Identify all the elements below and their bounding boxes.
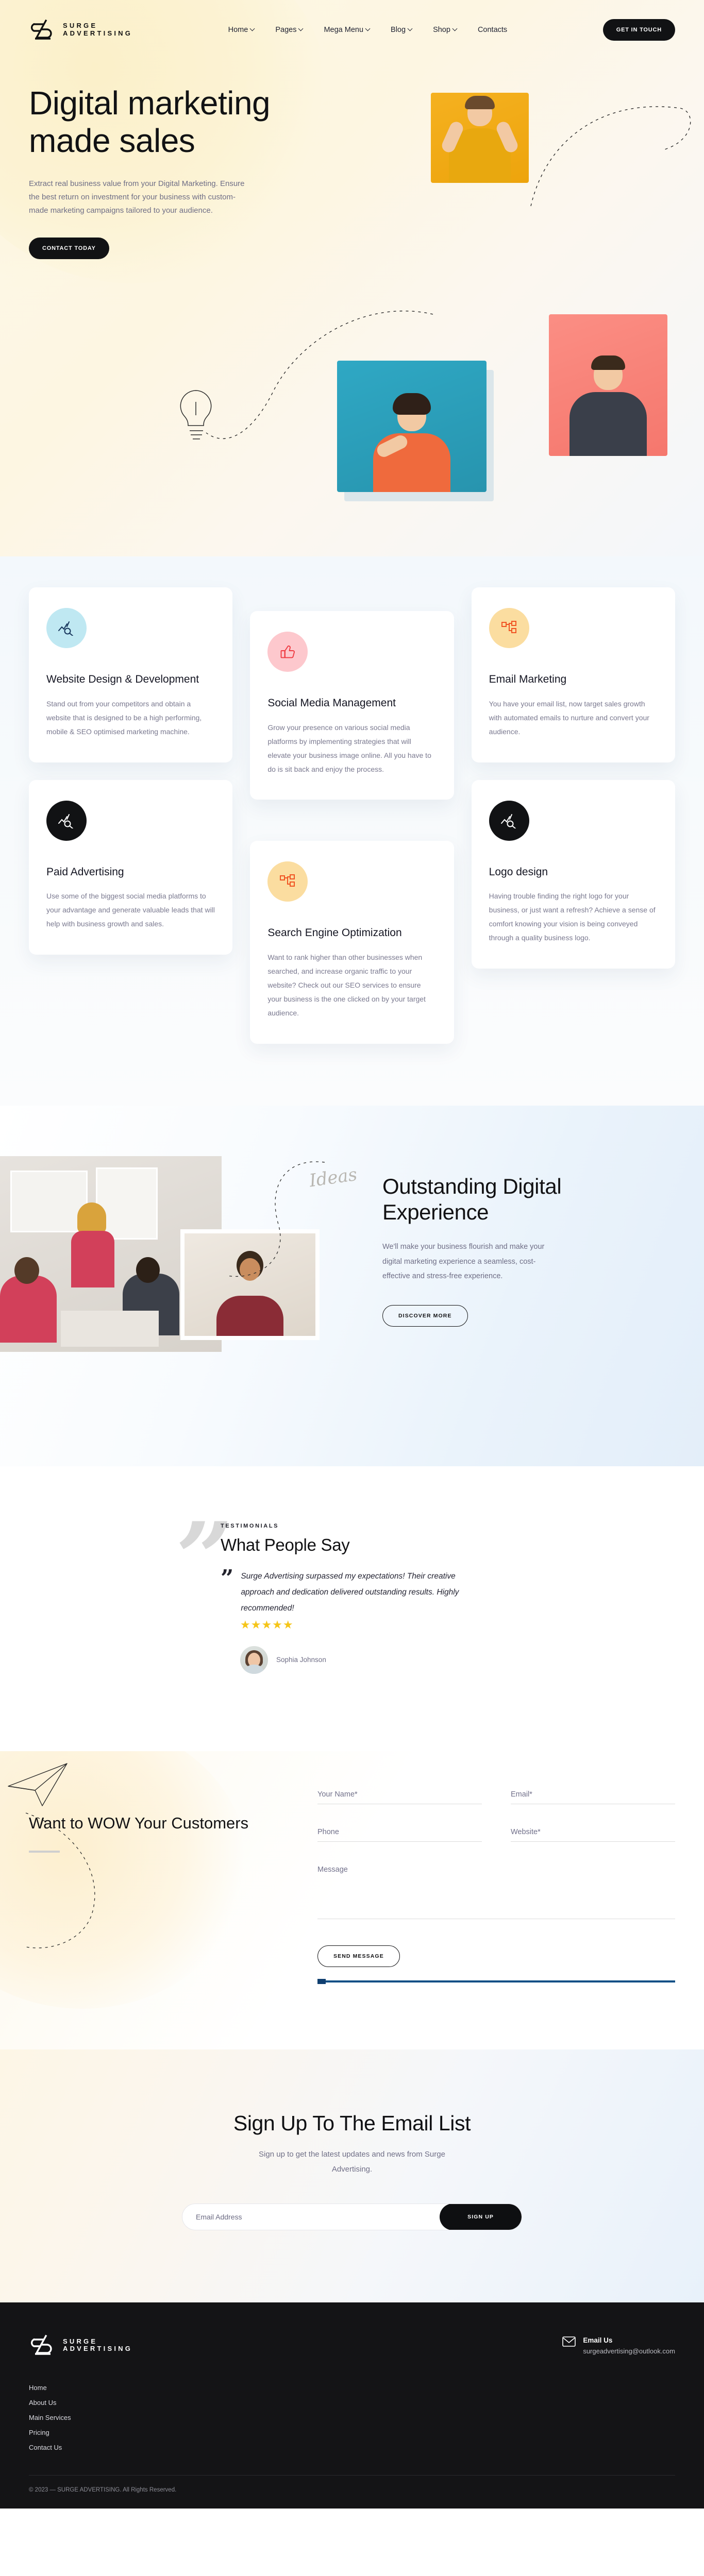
send-message-button[interactable]: SEND MESSAGE — [317, 1945, 400, 1967]
surge-monogram-icon — [29, 19, 57, 41]
brand-logo[interactable]: SURGE ADVERTISING — [29, 19, 132, 41]
service-card-website-design[interactable]: Website Design & Development Stand out f… — [29, 587, 232, 762]
testimonials-title: What People Say — [221, 1535, 544, 1555]
sitemap-icon — [489, 608, 529, 648]
footer-link-pricing[interactable]: Pricing — [29, 2429, 675, 2436]
footer-contact-label: Email Us — [583, 2336, 675, 2344]
thumbs-up-icon — [267, 632, 308, 672]
service-card-email-marketing[interactable]: Email Marketing You have your email list… — [472, 587, 675, 762]
newsletter-email-input[interactable] — [196, 2213, 440, 2221]
footer-link-about-us[interactable]: About Us — [29, 2399, 675, 2406]
contact-row: Want to WOW Your Customers — [29, 1782, 675, 1982]
sitemap-icon — [267, 861, 308, 902]
footer-brand-line-2: ADVERTISING — [63, 2345, 132, 2353]
nav-label: Pages — [275, 26, 296, 34]
footer-link-contact-us[interactable]: Contact Us — [29, 2444, 675, 2451]
contact-title: Want to WOW Your Customers — [29, 1813, 271, 1833]
envelope-icon — [562, 2336, 576, 2347]
nav-item-home[interactable]: Home — [228, 26, 255, 34]
service-title: Search Engine Optimization — [267, 926, 436, 940]
newsletter-section: Sign Up To The Email List Sign up to get… — [0, 2049, 704, 2303]
testimonial-text: Surge Advertising surpassed my expectati… — [241, 1568, 483, 1616]
service-title: Logo design — [489, 866, 658, 879]
outstanding-section: Ideas Outstanding Digital Experience We'… — [0, 1106, 704, 1466]
field-phone — [317, 1825, 482, 1842]
contact-heading-block: Want to WOW Your Customers — [29, 1782, 271, 1982]
chevron-down-icon — [408, 27, 412, 31]
chevron-down-icon — [366, 27, 370, 31]
footer-link-main-services[interactable]: Main Services — [29, 2414, 675, 2421]
nav-label: Contacts — [478, 26, 507, 34]
services-column-2: Social Media Management Grow your presen… — [250, 587, 454, 1044]
newsletter-signup-button[interactable]: SIGN UP — [440, 2204, 522, 2230]
services-grid: Website Design & Development Stand out f… — [29, 587, 675, 1044]
hero-photo-quiet-woman — [337, 361, 487, 492]
brand-text: SURGE ADVERTISING — [63, 22, 132, 37]
service-card-social-media[interactable]: Social Media Management Grow your presen… — [250, 611, 454, 800]
services-section: Website Design & Development Stand out f… — [0, 556, 704, 1106]
message-input[interactable] — [317, 1862, 675, 1919]
nav-item-mega-menu[interactable]: Mega Menu — [324, 26, 370, 34]
lightbulb-icon — [164, 381, 231, 453]
contact-form: SEND MESSAGE — [317, 1782, 675, 1982]
service-description: You have your email list, now target sal… — [489, 697, 658, 739]
footer-brand-logo[interactable]: SURGE ADVERTISING — [29, 2334, 132, 2356]
nav-label: Blog — [391, 26, 406, 34]
website-input[interactable] — [511, 1825, 675, 1842]
service-title: Paid Advertising — [46, 866, 215, 879]
services-column-3: Email Marketing You have your email list… — [472, 587, 675, 1044]
site-footer: SURGE ADVERTISING Email Us surgeadvertis… — [0, 2302, 704, 2509]
service-description: Having trouble finding the right logo fo… — [489, 889, 658, 945]
testimonial-author: Sophia Johnson — [240, 1646, 544, 1674]
footer-links: Home About Us Main Services Pricing Cont… — [29, 2384, 675, 2451]
outstanding-description: We'll make your business flourish and ma… — [382, 1240, 560, 1283]
newsletter-title: Sign Up To The Email List — [29, 2111, 675, 2136]
footer-top: SURGE ADVERTISING Email Us surgeadvertis… — [29, 2334, 675, 2356]
service-description: Use some of the biggest social media pla… — [46, 889, 215, 931]
testimonial-quote-block: ” Surge Advertising surpassed my expecta… — [221, 1568, 544, 1616]
testimonials-section: ” TESTIMONIALS What People Say ” Surge A… — [0, 1466, 704, 1751]
field-email — [511, 1787, 675, 1804]
field-website — [511, 1825, 675, 1842]
chart-search-icon — [46, 608, 87, 648]
nav-item-contacts[interactable]: Contacts — [478, 26, 507, 34]
phone-input[interactable] — [317, 1825, 482, 1842]
contact-section: Want to WOW Your Customers — [0, 1751, 704, 2049]
brand-line-1: SURGE — [63, 22, 132, 30]
hero-content: Digital marketing made sales Extract rea… — [0, 47, 704, 259]
outstanding-content: Outstanding Digital Experience We'll mak… — [382, 1174, 625, 1327]
email-input[interactable] — [511, 1787, 675, 1804]
service-card-seo[interactable]: Search Engine Optimization Want to rank … — [250, 841, 454, 1043]
author-name: Sophia Johnson — [276, 1656, 326, 1664]
get-in-touch-button[interactable]: GET IN TOUCH — [603, 19, 675, 41]
service-title: Social Media Management — [267, 697, 436, 710]
testimonials-eyebrow: TESTIMONIALS — [221, 1523, 544, 1529]
service-card-logo-design[interactable]: Logo design Having trouble finding the r… — [472, 780, 675, 969]
hero-subtitle: Extract real business value from your Di… — [29, 177, 250, 217]
service-description: Stand out from your competitors and obta… — [46, 697, 215, 739]
ideas-script-text: Ideas — [308, 1164, 359, 1191]
testimonial-card: ” TESTIMONIALS What People Say ” Surge A… — [183, 1523, 544, 1674]
newsletter-form: SIGN UP — [182, 2204, 522, 2230]
service-title: Website Design & Development — [46, 673, 215, 687]
video-call-photo — [180, 1229, 320, 1340]
service-card-paid-advertising[interactable]: Paid Advertising Use some of the biggest… — [29, 780, 232, 955]
rating-stars: ★★★★★ — [240, 1618, 544, 1632]
chevron-down-icon — [453, 27, 457, 31]
footer-brand-text: SURGE ADVERTISING — [63, 2338, 132, 2353]
hero-title: Digital marketing made sales — [29, 84, 317, 160]
chevron-down-icon — [250, 27, 255, 31]
chevron-down-icon — [299, 27, 303, 31]
nav-item-pages[interactable]: Pages — [275, 26, 303, 34]
contact-divider — [29, 1851, 60, 1853]
field-message — [317, 1862, 675, 1922]
nav-links: Home Pages Mega Menu Blog Shop Contacts — [228, 26, 508, 34]
nav-label: Home — [228, 26, 248, 34]
chart-search-icon — [489, 801, 529, 841]
form-progress-bar[interactable] — [317, 1980, 675, 1982]
service-description: Want to rank higher than other businesse… — [267, 951, 436, 1020]
contact-form-grid — [317, 1787, 675, 1942]
service-title: Email Marketing — [489, 673, 658, 687]
footer-copyright: © 2023 — SURGE ADVERTISING. All Rights R… — [29, 2476, 675, 2509]
footer-contact-text: Email Us surgeadvertising@outlook.com — [583, 2336, 675, 2355]
chart-search-icon — [46, 801, 87, 841]
hero-section: SURGE ADVERTISING Home Pages Mega Menu B… — [0, 0, 704, 556]
footer-contact: Email Us surgeadvertising@outlook.com — [562, 2334, 675, 2355]
nav-label: Shop — [433, 26, 450, 34]
footer-brand-line-1: SURGE — [63, 2338, 132, 2346]
outstanding-images: Ideas — [0, 1147, 340, 1374]
quote-mark-icon: ” — [221, 1568, 233, 1616]
avatar — [240, 1646, 268, 1674]
nav-label: Mega Menu — [324, 26, 363, 34]
name-input[interactable] — [317, 1787, 482, 1804]
brand-line-2: ADVERTISING — [63, 30, 132, 38]
nav-item-shop[interactable]: Shop — [433, 26, 457, 34]
surge-monogram-icon — [29, 2334, 57, 2356]
nav-item-blog[interactable]: Blog — [391, 26, 412, 34]
contact-today-button[interactable]: CONTACT TODAY — [29, 238, 109, 259]
footer-contact-value[interactable]: surgeadvertising@outlook.com — [583, 2347, 675, 2355]
form-progress-knob[interactable] — [317, 1979, 326, 1984]
newsletter-subtitle: Sign up to get the latest updates and ne… — [249, 2147, 455, 2177]
service-description: Grow your presence on various social med… — [267, 721, 436, 776]
outstanding-title: Outstanding Digital Experience — [382, 1174, 625, 1226]
field-name — [317, 1787, 482, 1804]
footer-link-home[interactable]: Home — [29, 2384, 675, 2392]
main-navigation: SURGE ADVERTISING Home Pages Mega Menu B… — [0, 0, 704, 47]
services-column-1: Website Design & Development Stand out f… — [29, 587, 232, 1044]
hero-photo-smiling-man — [549, 314, 667, 456]
discover-more-button[interactable]: DISCOVER MORE — [382, 1305, 468, 1327]
